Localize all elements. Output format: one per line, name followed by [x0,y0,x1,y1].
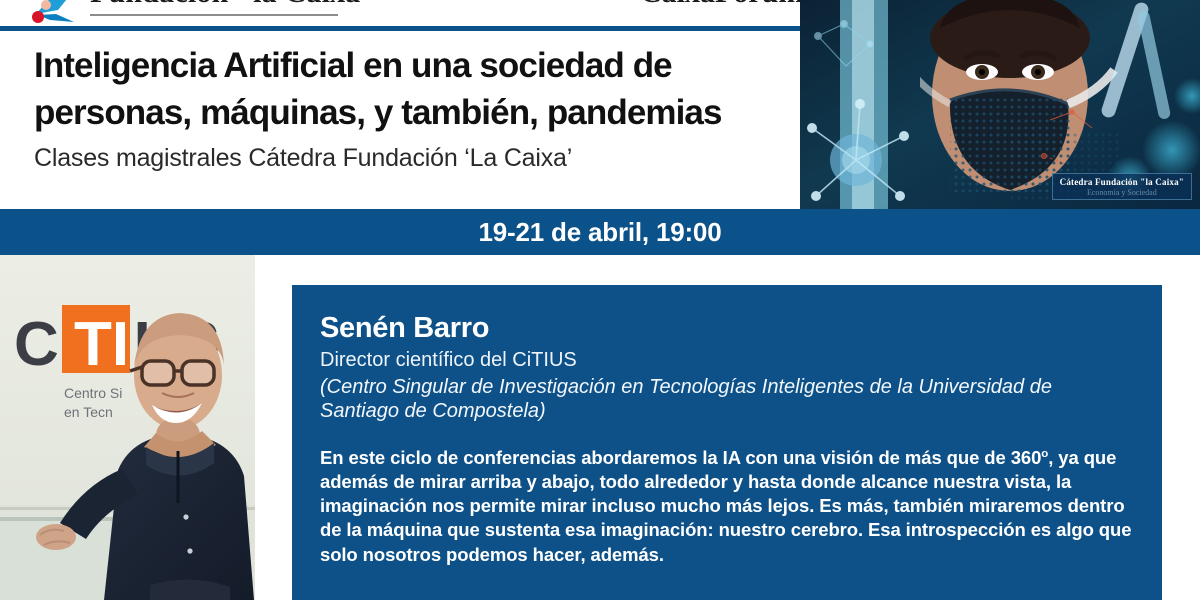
hero-badge-line-2: Economía y Sociedad [1060,188,1184,197]
page-title-line-2: personas, máquinas, y también, pandemias [34,90,782,137]
svg-text:en Tecn: en Tecn [64,404,113,420]
hero-image: Cátedra Fundación "la Caixa" Economía y … [800,0,1200,210]
speaker-name: Senén Barro [320,313,1132,345]
brand-caixa-label: Fundación "la Caixa" [90,0,377,10]
hero-badge: Cátedra Fundación "la Caixa" Economía y … [1052,173,1192,200]
page-subtitle: Clases magistrales Cátedra Fundación ‘La… [34,142,782,175]
speaker-role: Director científico del CiTIUS [320,348,1132,373]
panel-body-text: En este ciclo de conferencias abordaremo… [320,446,1132,567]
content-panel: Senén Barro Director científico del CiTI… [292,285,1162,600]
speaker-photo: Ci TI US Centro Si en Tecn [0,255,255,600]
hero-badge-line-1: Cátedra Fundación "la Caixa" [1060,177,1184,187]
body-text-part-1: En este ciclo de conferencias abordaremo… [320,447,1041,468]
date-banner-text: 19-21 de abril, 19:00 [479,217,722,248]
title-block: Inteligencia Artificial en una sociedad … [0,31,800,209]
brand-underline [90,14,338,16]
page-title-line-1: Inteligencia Artificial en una sociedad … [34,43,782,90]
svg-text:TI: TI [74,310,129,379]
svg-text:Centro Si: Centro Si [64,385,122,401]
date-banner: 19-21 de abril, 19:00 [0,209,1200,255]
speaker-affiliation: (Centro Singular de Investigación en Tec… [320,375,1132,424]
brand-caixaforum-label: CaixaForum [640,0,800,10]
caixa-star-logo-icon [22,0,82,27]
header-bar: Fundación "la Caixa" CaixaForum [0,0,800,27]
